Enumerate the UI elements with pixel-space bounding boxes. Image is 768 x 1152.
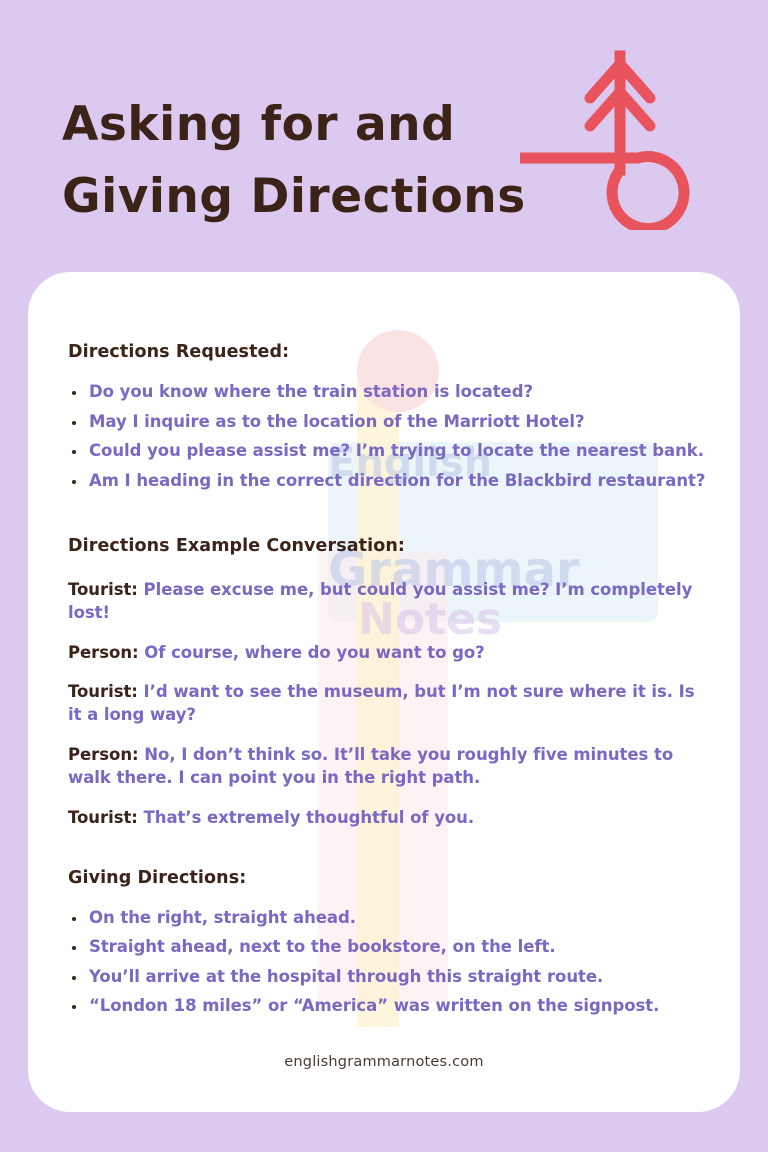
page-title: Asking for and Giving Directions [62,89,532,232]
spacer [68,830,712,868]
dialogue-line: Tourist: I’d want to see the museum, but… [68,680,712,726]
section-heading-giving-directions: Giving Directions: [68,868,712,888]
dialogue-line: Person: Of course, where do you want to … [68,641,712,664]
list-item: “London 18 miles” or “America” was writt… [68,998,712,1015]
page-title-line-1: Asking for and [62,89,532,160]
dialogue-speaker: Person: [68,643,139,662]
dialogue-line: Person: No, I don’t think so. It’ll take… [68,743,712,789]
page-title-line-2: Giving Directions [62,161,532,232]
list-item: Could you please assist me? I’m trying t… [68,443,712,460]
directions-requested-list: Do you know where the train station is l… [68,384,712,489]
dialogue-line: Tourist: That’s extremely thoughtful of … [68,806,712,829]
poster-header: Asking for and Giving Directions [0,0,768,272]
list-item: Do you know where the train station is l… [68,384,712,401]
section-heading-example-conversation: Directions Example Conversation: [68,536,712,556]
card-body: Directions Requested: Do you know where … [28,272,740,1015]
up-arrow-with-loop-icon [520,30,720,230]
dialogue-text: No, I don’t think so. It’ll take you rou… [68,745,673,787]
section-heading-directions-requested: Directions Requested: [68,342,712,362]
dialogue-text: I’d want to see the museum, but I’m not … [68,682,695,724]
list-item: Am I heading in the correct direction fo… [68,473,712,490]
spacer [68,502,712,536]
dialogue-text: Please excuse me, but could you assist m… [68,580,692,622]
dialogue-line: Tourist: Please excuse me, but could you… [68,578,712,624]
list-item: May I inquire as to the location of the … [68,414,712,431]
list-item: You’ll arrive at the hospital through th… [68,969,712,986]
list-item: Straight ahead, next to the bookstore, o… [68,939,712,956]
site-footer: englishgrammarnotes.com [28,1054,740,1070]
conversation-list: Tourist: Please excuse me, but could you… [68,578,712,829]
giving-directions-list: On the right, straight ahead. Straight a… [68,910,712,1015]
dialogue-speaker: Person: [68,745,139,764]
dialogue-speaker: Tourist: [68,580,138,599]
list-item: On the right, straight ahead. [68,910,712,927]
dialogue-text: Of course, where do you want to go? [139,643,485,662]
dialogue-speaker: Tourist: [68,808,138,827]
dialogue-speaker: Tourist: [68,682,138,701]
dialogue-text: That’s extremely thoughtful of you. [138,808,474,827]
content-card: English Grammar Notes Directions Request… [28,272,740,1112]
